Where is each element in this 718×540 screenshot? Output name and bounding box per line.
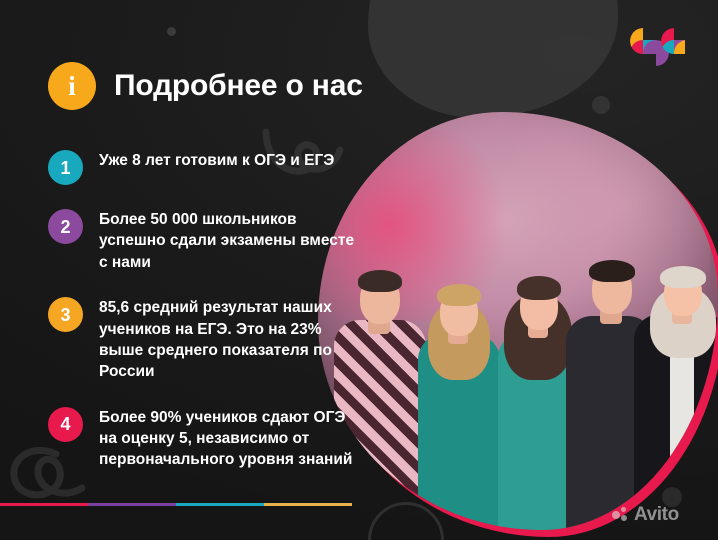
feature-list: 1 Уже 8 лет готовим к ОГЭ и ЕГЭ 2 Более …: [48, 148, 358, 493]
list-item: 3 85,6 средний результат наших учеников …: [48, 295, 358, 383]
avito-dots-icon: [612, 507, 629, 522]
bar-segment-3: [176, 503, 264, 506]
list-item-text: Более 50 000 школьников успешно сдали эк…: [99, 207, 358, 273]
avito-watermark: Avito: [612, 505, 679, 524]
list-item-number: 3: [48, 297, 83, 332]
person-2: [416, 244, 502, 530]
brand-logo-icon: [630, 28, 685, 66]
bar-segment-2: [88, 503, 176, 506]
info-icon: i: [48, 62, 96, 110]
list-item-number: 4: [48, 407, 83, 442]
bottom-color-bar: [0, 503, 352, 506]
list-item-number: 2: [48, 209, 83, 244]
team-photo: [318, 112, 718, 530]
people-group: [318, 112, 718, 530]
list-item-text: 85,6 средний результат наших учеников на…: [99, 295, 358, 383]
list-item-text: Более 90% учеников сдают ОГЭ на оценку 5…: [99, 405, 358, 471]
bar-segment-1: [0, 503, 88, 506]
page-title: Подробнее о нас: [114, 69, 363, 103]
slide-root: i Подробнее о нас 1 Уже 8 лет готовим к …: [0, 0, 718, 540]
list-item: 4 Более 90% учеников сдают ОГЭ на оценку…: [48, 405, 358, 471]
bar-segment-4: [264, 503, 352, 506]
list-item: 1 Уже 8 лет готовим к ОГЭ и ЕГЭ: [48, 148, 358, 185]
list-item-number: 1: [48, 150, 83, 185]
photo-blob: [318, 112, 718, 530]
info-icon-glyph: i: [68, 73, 76, 100]
list-item: 2 Более 50 000 школьников успешно сдали …: [48, 207, 358, 273]
avito-wordmark: Avito: [634, 505, 679, 524]
dot-decoration-small: [167, 27, 176, 36]
slide-header: i Подробнее о нас: [48, 62, 363, 110]
person-5: [634, 218, 718, 530]
list-item-text: Уже 8 лет готовим к ОГЭ и ЕГЭ: [99, 148, 334, 185]
